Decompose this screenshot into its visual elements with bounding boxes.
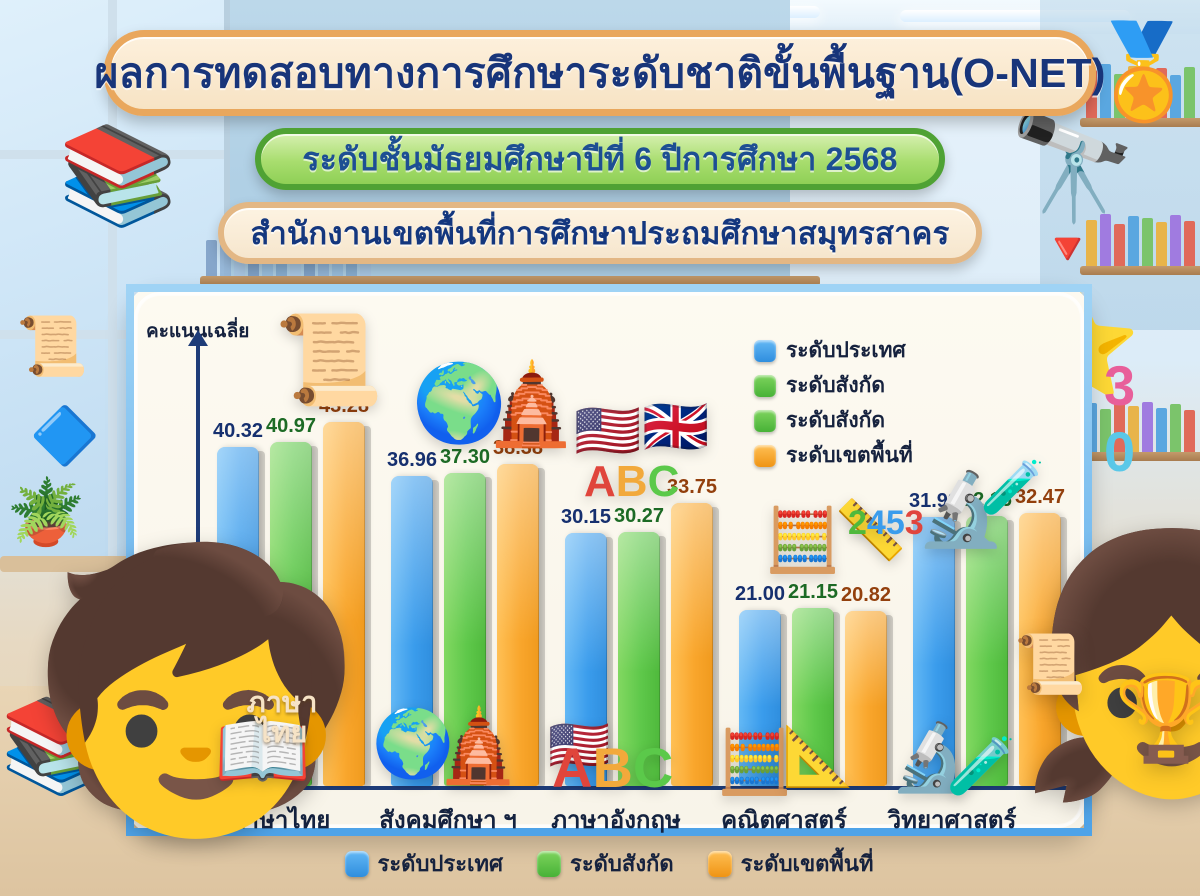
subtitle-office-text: สำนักงานเขตพื้นที่การศึกษาประถมศึกษาสมุท… bbox=[251, 208, 950, 258]
bookshelf-right-plank-2 bbox=[1080, 266, 1200, 275]
legend-inner-label-2: ระดับสังกัด bbox=[786, 404, 885, 437]
bar-column: 31.99 bbox=[911, 332, 957, 786]
main-title-banner: ผลการทดสอบทางการศึกษาระดับชาติขั้นพื้นฐา… bbox=[104, 30, 1096, 116]
chart-legend-bottom: ระดับประเทศ ระดับสังกัด ระดับเขตพื้นที่ bbox=[126, 846, 1092, 881]
legend-bottom-label-1: ระดับสังกัด bbox=[570, 846, 674, 881]
legend-inner-item-3[interactable]: ระดับเขตพื้นที่ bbox=[754, 439, 913, 472]
bar-value-label: 21.15 bbox=[788, 581, 838, 604]
temple-icon-base: 🛕 bbox=[434, 710, 524, 782]
diploma-scroll-icon: 📜 bbox=[16, 318, 88, 376]
diploma-icon: 📜 bbox=[1014, 636, 1086, 694]
legend-inner-item-2[interactable]: ระดับสังกัด bbox=[754, 404, 913, 437]
scroll-quill-icon: 📜 bbox=[274, 316, 384, 404]
legend-inner-item-1[interactable]: ระดับสังกัด bbox=[754, 369, 913, 402]
trophy-icon: 🏆 bbox=[1114, 676, 1200, 760]
bar-value-label: 37.30 bbox=[440, 446, 490, 469]
boy-student-character: 🧒 bbox=[28, 556, 364, 826]
bar-ระดับเขตพื้นที่[interactable] bbox=[671, 503, 713, 787]
category-label-4: วิทยาศาสตร์ bbox=[869, 800, 1035, 839]
telescope-icon: 🔭 bbox=[1008, 116, 1138, 220]
purple-triangle-icon: 🔻 bbox=[1040, 228, 1095, 272]
legend-swatch-blue-icon bbox=[754, 340, 776, 362]
flag-uk-icon-top: 🇬🇧 bbox=[642, 400, 709, 454]
digits-top: 2453 bbox=[848, 506, 924, 540]
subtitle-banner-grade: ระดับชั้นมัธยมศึกษาปีที่ 6 ปีการศึกษา 25… bbox=[255, 128, 945, 190]
molecule-icon-top: 🧪 bbox=[980, 462, 1045, 514]
subtitle-banner-office: สำนักงานเขตพื้นที่การศึกษาประถมศึกษาสมุท… bbox=[218, 202, 982, 264]
bar-value-label: 40.97 bbox=[266, 415, 316, 438]
infographic-root: 📚 📜 🔷 🪴 🔭 🏅 🔻 ⭐ 3 0 📚 📘 ผลการทดสอบทางการ… bbox=[0, 0, 1200, 896]
legend-inner-item-0[interactable]: ระดับประเทศ bbox=[754, 334, 913, 367]
abc-letters-top: ABC bbox=[584, 460, 679, 504]
legend-bottom-item-1[interactable]: ระดับสังกัด bbox=[537, 846, 674, 881]
temple-icon-top: 🛕 bbox=[482, 364, 582, 444]
test-tube-icon-base: 🧪 bbox=[946, 738, 1016, 794]
flag-us-icon-top: 🇺🇸 bbox=[574, 404, 641, 458]
bar-column: 32.16 bbox=[964, 332, 1010, 786]
legend-bottom-swatch-orange-icon bbox=[708, 851, 732, 877]
legend-swatch-orange-icon bbox=[754, 445, 776, 467]
legend-bottom-swatch-blue-icon bbox=[345, 851, 369, 877]
books-stack-left-icon: 📚 bbox=[58, 128, 178, 224]
bookshelf-right-plank-3 bbox=[1080, 452, 1200, 461]
category-label-3: คณิตศาสตร์ bbox=[701, 800, 867, 839]
legend-bottom-label-2: ระดับเขตพื้นที่ bbox=[741, 846, 874, 881]
legend-bottom-item-2[interactable]: ระดับเขตพื้นที่ bbox=[708, 846, 874, 881]
legend-swatch-green2-icon bbox=[754, 410, 776, 432]
legend-bottom-item-0[interactable]: ระดับประเทศ bbox=[345, 846, 503, 881]
number-zero-icon: 0 bbox=[1104, 424, 1135, 480]
book-open-icon-base: 📖 bbox=[214, 712, 311, 790]
legend-inner-label-0: ระดับประเทศ bbox=[786, 334, 906, 367]
legend-inner-label-1: ระดับสังกัด bbox=[786, 369, 885, 402]
plant-icon: 🪴 bbox=[6, 480, 86, 544]
subtitle-grade-text: ระดับชั้นมัธยมศึกษาปีที่ 6 ปีการศึกษา 25… bbox=[302, 134, 897, 185]
shapes-cube-icon: 🔷 bbox=[30, 408, 100, 464]
bar-value-label: 40.32 bbox=[213, 420, 263, 443]
category-label-1: สังคมศึกษา ฯ bbox=[365, 800, 531, 839]
chart-legend-inner: ระดับประเทศ ระดับสังกัด ระดับสังกัด ระดั… bbox=[754, 334, 913, 472]
legend-bottom-label-0: ระดับประเทศ bbox=[378, 846, 503, 881]
number-three-icon: 3 bbox=[1104, 358, 1135, 414]
bar-value-label: 20.82 bbox=[841, 584, 891, 607]
bar-value-label: 30.15 bbox=[561, 506, 611, 529]
bar-value-label: 21.00 bbox=[735, 583, 785, 606]
bar-value-label: 30.27 bbox=[614, 505, 664, 528]
legend-bottom-swatch-green-icon bbox=[537, 851, 561, 877]
legend-swatch-green-icon bbox=[754, 375, 776, 397]
calculator-icon-top: 🧮 bbox=[764, 510, 841, 572]
category-label-2: ภาษาอังกฤษ bbox=[533, 800, 699, 839]
main-title-text: ผลการทดสอบทางการศึกษาระดับชาติขั้นพื้นฐา… bbox=[94, 41, 1105, 106]
ruler-icon-base: 📐 bbox=[782, 728, 854, 786]
abc-letters-base: ABC bbox=[552, 740, 673, 796]
bar-value-label: 36.96 bbox=[387, 449, 437, 472]
legend-inner-label-3: ระดับเขตพื้นที่ bbox=[786, 439, 913, 472]
